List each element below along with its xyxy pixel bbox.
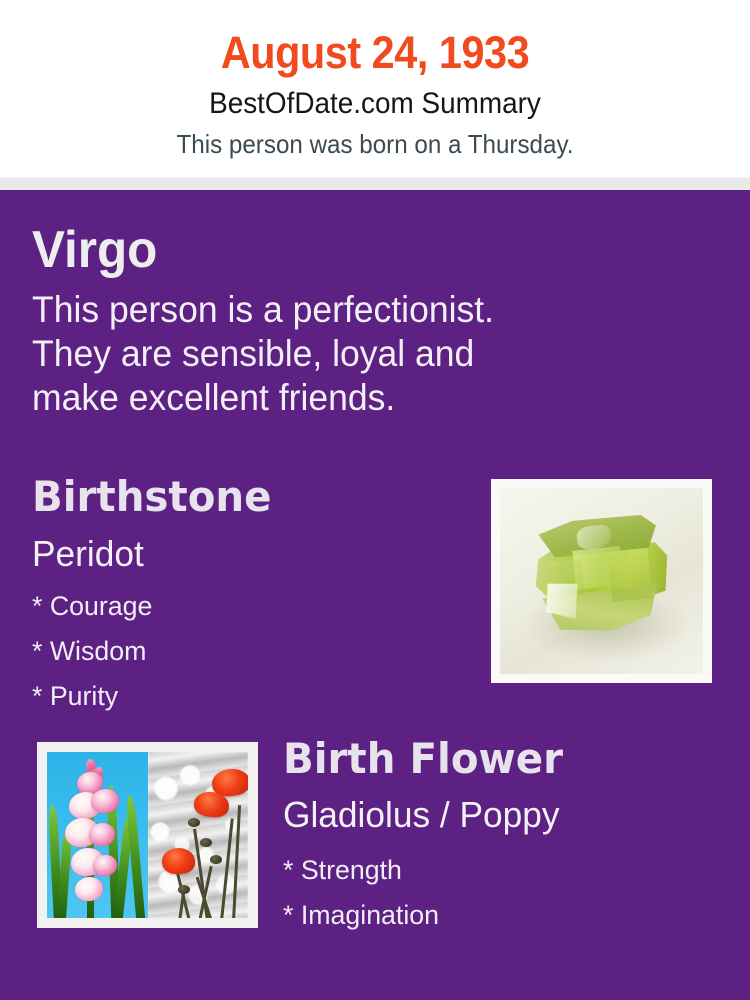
infographic-page: August 24, 1933 BestOfDate.com Summary T…	[0, 0, 750, 1000]
birthstone-trait-item: * Courage	[32, 584, 152, 629]
poppy-bud	[178, 885, 190, 894]
birthstone-heading: Birthstone	[32, 473, 271, 521]
content-panel: Virgo This person is a perfectionist. Th…	[0, 190, 750, 1000]
birthstone-trait-list: * Courage * Wisdom * Purity	[32, 584, 154, 719]
birthstone-trait-item: * Wisdom	[32, 629, 152, 674]
gem-shape	[529, 511, 674, 640]
poppy-photo-half	[148, 752, 249, 918]
weekday-line: This person was born on a Thursday.	[26, 128, 724, 160]
birthstone-trait-item: * Purity	[32, 674, 152, 719]
site-name-subtitle: BestOfDate.com Summary	[26, 86, 724, 122]
birthstone-image-frame	[491, 479, 712, 683]
poppy-bloom	[161, 847, 196, 875]
gladiolus-photo-half	[47, 752, 148, 918]
birthflower-image-frame	[37, 742, 258, 928]
gladiolus-bloom	[75, 877, 103, 901]
gladiolus-bloom	[91, 789, 119, 813]
peridot-gemstone-image	[500, 488, 703, 674]
header: August 24, 1933 BestOfDate.com Summary T…	[0, 0, 750, 177]
birthflower-name: Gladiolus / Poppy	[283, 794, 560, 836]
zodiac-description: This person is a perfectionist. They are…	[32, 288, 666, 420]
birthstone-name: Peridot	[32, 533, 144, 575]
page-title-date: August 24, 1933	[30, 25, 720, 81]
zodiac-description-line: This person is a perfectionist.	[32, 288, 666, 332]
birthflower-heading: Birth Flower	[283, 735, 563, 783]
birthflower-trait-list: * Strength * Imagination	[283, 848, 441, 938]
poppy-bud	[200, 838, 212, 847]
birthflower-trait-item: * Imagination	[283, 893, 439, 938]
zodiac-sign-name: Virgo	[32, 222, 157, 278]
gladiolus-and-poppy-image	[47, 752, 248, 918]
zodiac-description-line: make excellent friends.	[32, 376, 666, 420]
gladiolus-bloom	[93, 855, 117, 876]
header-divider	[0, 177, 750, 191]
zodiac-description-line: They are sensible, loyal and	[32, 332, 666, 376]
birthflower-trait-item: * Strength	[283, 848, 439, 893]
poppy-bud	[210, 855, 222, 864]
gem-facet-b	[607, 547, 652, 602]
poppy-bud	[188, 818, 200, 827]
